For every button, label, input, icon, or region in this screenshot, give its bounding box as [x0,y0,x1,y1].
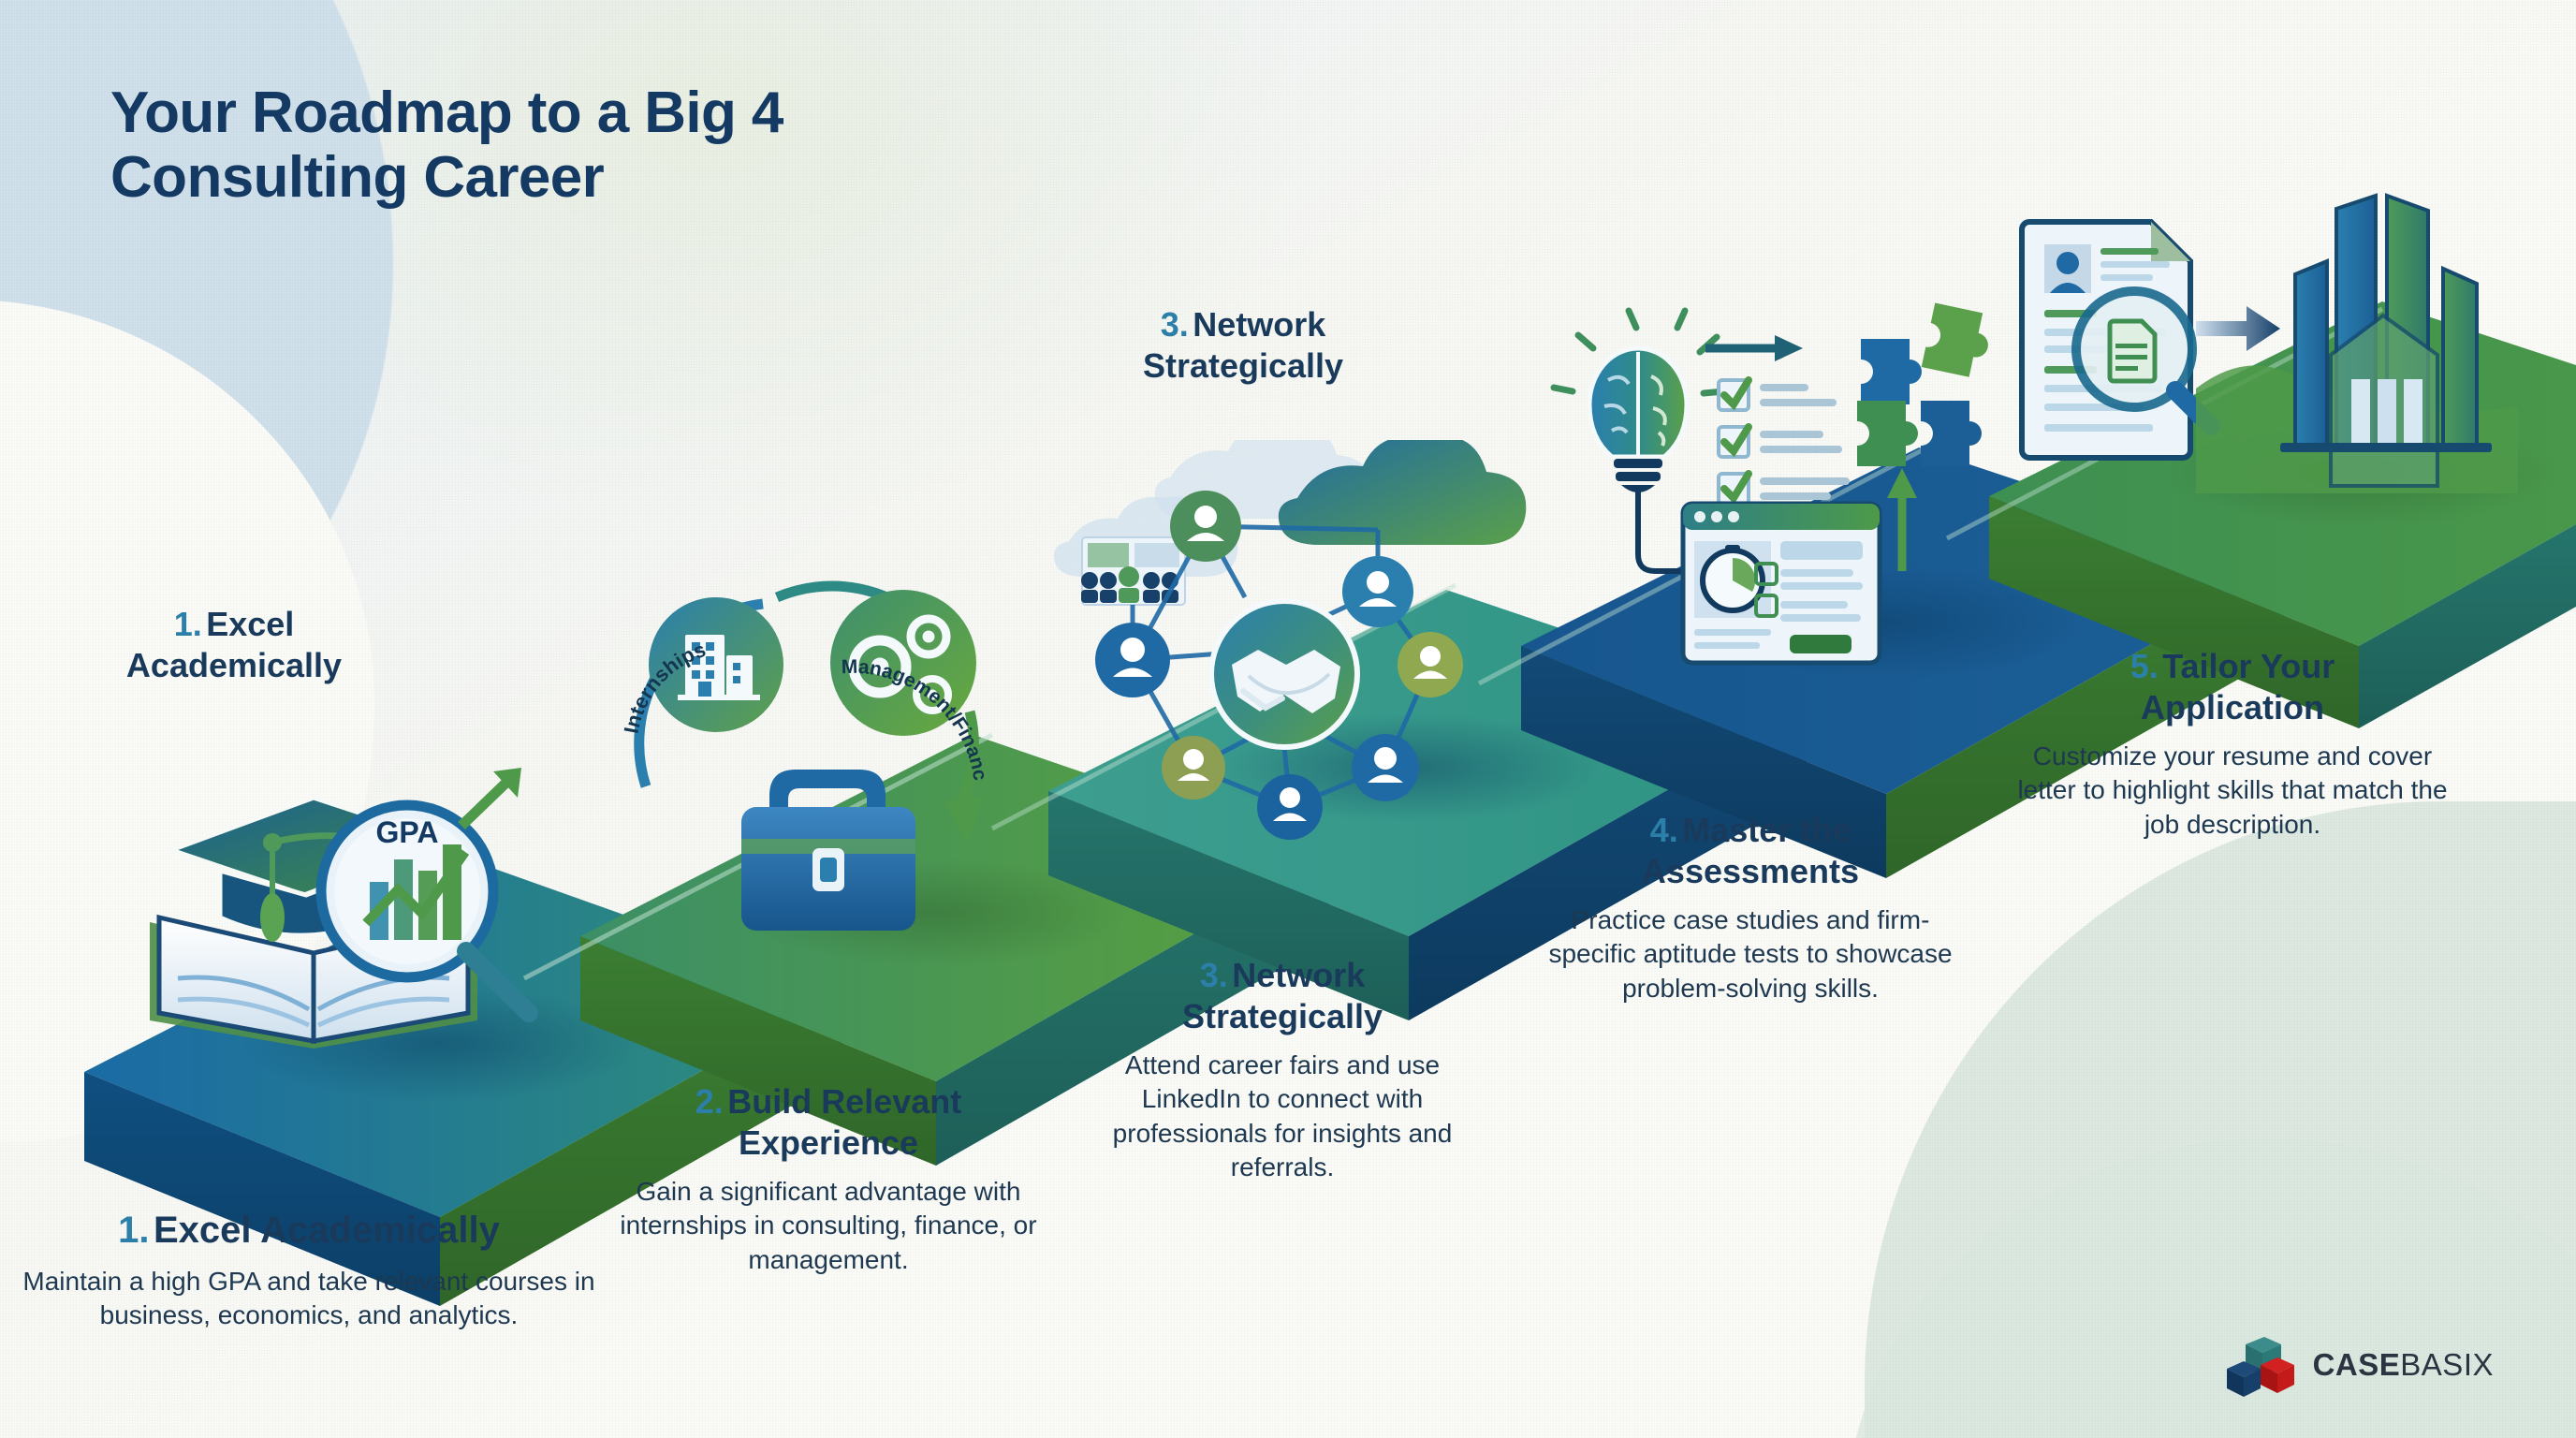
step-5-description: Customize your resume and cover letter t… [2012,740,2452,842]
puzzle-icon [1857,303,1995,466]
step-3-number: 3. [1200,956,1228,994]
step-1-top-title-line2: Academically [75,645,393,686]
step-3-title-line2: Strategically [1076,996,1488,1037]
page-title-line2: Consulting Career [110,145,1327,210]
step-3-title-line1: Network [1232,956,1365,994]
step-2-block: 2. Build Relevant Experience Gain a sign… [599,1081,1058,1277]
brand-name-thin: BASIX [2400,1347,2494,1382]
illustration-graduation-gpa: GPA [89,740,538,1086]
step-3-top-title-line2: Strategically [1075,345,1412,387]
step-5-number: 5. [2130,647,2159,685]
step-4-description: Practice case studies and firm-specific … [1535,903,1966,1005]
step-1-number: 1. [118,1210,149,1251]
step-3-top-label: 3. Network Strategically [1075,304,1412,387]
step-2-title-line1: Build Relevant [727,1082,961,1121]
step-1-top-title-line1: Excel [206,605,294,643]
brand-name: CASEBASIX [2313,1347,2494,1383]
step-1-description: Maintain a high GPA and take relevant co… [9,1265,608,1333]
gpa-label: GPA [376,815,439,849]
step-3-top-title-line1: Network [1193,305,1325,344]
infographic-canvas: GPA [0,0,2576,1438]
checklist-icon [1719,380,1850,504]
step-4-title-line2: Assessments [1535,851,1966,892]
assessment-window [1683,504,1880,663]
brand-logo: CASEBASIX [2223,1331,2494,1399]
page-title: Your Roadmap to a Big 4 Consulting Caree… [110,81,1327,211]
step-5-block: 5. Tailor Your Application Customize you… [2012,646,2452,842]
corporate-buildings-icon [2280,196,2492,486]
step-4-number: 4. [1650,811,1678,849]
illustration-application [2012,154,2518,510]
step-5-title-line2: Application [2012,687,2452,728]
step-2-description: Gain a significant advantage with intern… [599,1175,1058,1277]
step-3-top-number: 3. [1161,305,1189,344]
step-1-top-label: 1. Excel Academically [75,604,393,686]
illustration-experience: Internships Management/Finance [599,562,1067,992]
handshake-icon [1211,601,1357,747]
briefcase-icon [741,770,915,931]
step-2-title-line2: Experience [599,1123,1058,1164]
step-4-block: 4. Master the Assessments Practice case … [1535,810,1966,1005]
step-3-block: 3. Network Strategically Attend career f… [1076,955,1488,1184]
page-title-line1: Your Roadmap to a Big 4 [110,81,783,145]
step-1-title: Excel Academically [154,1210,500,1251]
step-3-description: Attend career fairs and use LinkedIn to … [1076,1049,1488,1185]
step-2-number: 2. [695,1082,724,1121]
illustration-network [1048,440,1535,852]
illustration-assessments [1535,290,2041,683]
step-4-title-line1: Master the [1682,811,1851,849]
step-1-top-number: 1. [174,605,202,643]
cubes-icon [2223,1331,2298,1399]
brand-name-bold: CASE [2313,1347,2401,1382]
step-1-block: 1. Excel Academically Maintain a high GP… [9,1208,608,1333]
step-5-title-line1: Tailor Your [2162,647,2334,685]
